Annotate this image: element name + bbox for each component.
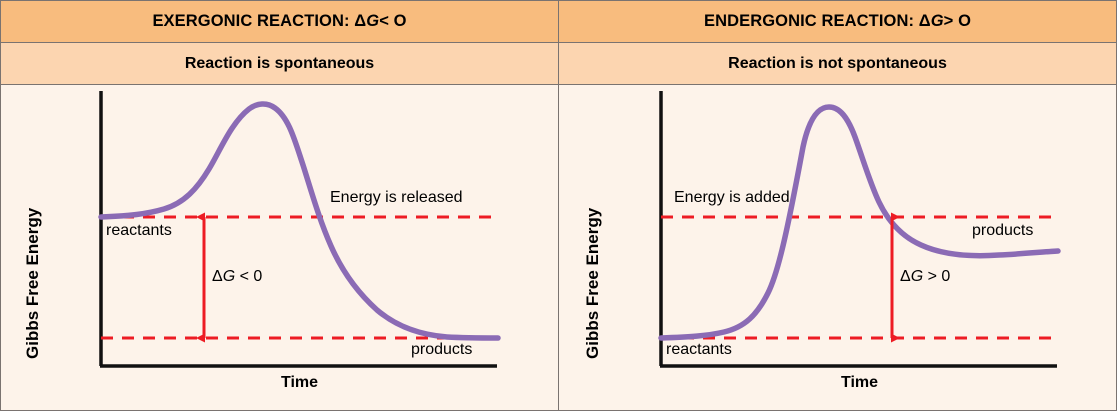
exergonic-header-title: EXERGONIC REACTION: ΔG < O (1, 1, 558, 43)
exergonic-delta-g-suffix: < 0 (235, 268, 262, 285)
endergonic-products-label: products (972, 222, 1033, 240)
endergonic-plot-svg (559, 85, 1117, 411)
exergonic-x-axis-label: Time (101, 374, 498, 392)
reaction-energy-diagram: EXERGONIC REACTION: ΔG < O Reaction is s… (0, 0, 1117, 411)
endergonic-title-italic-g: G (931, 12, 944, 31)
exergonic-plot-svg (1, 85, 560, 411)
endergonic-energy-added-label: Energy is added (674, 189, 790, 207)
endergonic-x-axis-label: Time (661, 374, 1058, 392)
endergonic-plot: Gibbs Free Energy Time reactants product… (559, 85, 1116, 411)
panel-endergonic: ENDERGONIC REACTION: ΔG > O Reaction is … (558, 0, 1117, 411)
exergonic-energy-curve (101, 104, 498, 338)
endergonic-title-suffix: > O (944, 12, 971, 31)
exergonic-products-label: products (411, 341, 472, 359)
exergonic-energy-released-label: Energy is released (330, 189, 463, 207)
exergonic-title-italic-g: G (366, 12, 379, 31)
exergonic-reactants-label: reactants (106, 222, 172, 240)
panel-exergonic: EXERGONIC REACTION: ΔG < O Reaction is s… (0, 0, 559, 411)
exergonic-title-suffix: < O (379, 12, 406, 31)
endergonic-delta-g-suffix: > 0 (923, 268, 950, 285)
endergonic-delta-g-prefix: Δ (900, 268, 911, 285)
exergonic-delta-g-prefix: Δ (212, 268, 223, 285)
endergonic-reactants-label: reactants (666, 341, 732, 359)
endergonic-delta-g-label: ΔG > 0 (900, 268, 950, 286)
endergonic-header-title: ENDERGONIC REACTION: ΔG > O (559, 1, 1116, 43)
exergonic-plot: Gibbs Free Energy Time reactants product… (1, 85, 558, 411)
exergonic-delta-g-label: ΔG < 0 (212, 268, 262, 286)
exergonic-y-axis-label: Gibbs Free Energy (23, 208, 43, 359)
endergonic-header-subtitle: Reaction is not spontaneous (559, 43, 1116, 85)
exergonic-delta-g-italic-g: G (223, 268, 235, 285)
endergonic-title-prefix: ENDERGONIC REACTION: Δ (704, 12, 931, 31)
exergonic-header-subtitle: Reaction is spontaneous (1, 43, 558, 85)
endergonic-y-axis-label: Gibbs Free Energy (583, 208, 603, 359)
endergonic-delta-g-italic-g: G (911, 268, 923, 285)
exergonic-title-prefix: EXERGONIC REACTION: Δ (152, 12, 366, 31)
